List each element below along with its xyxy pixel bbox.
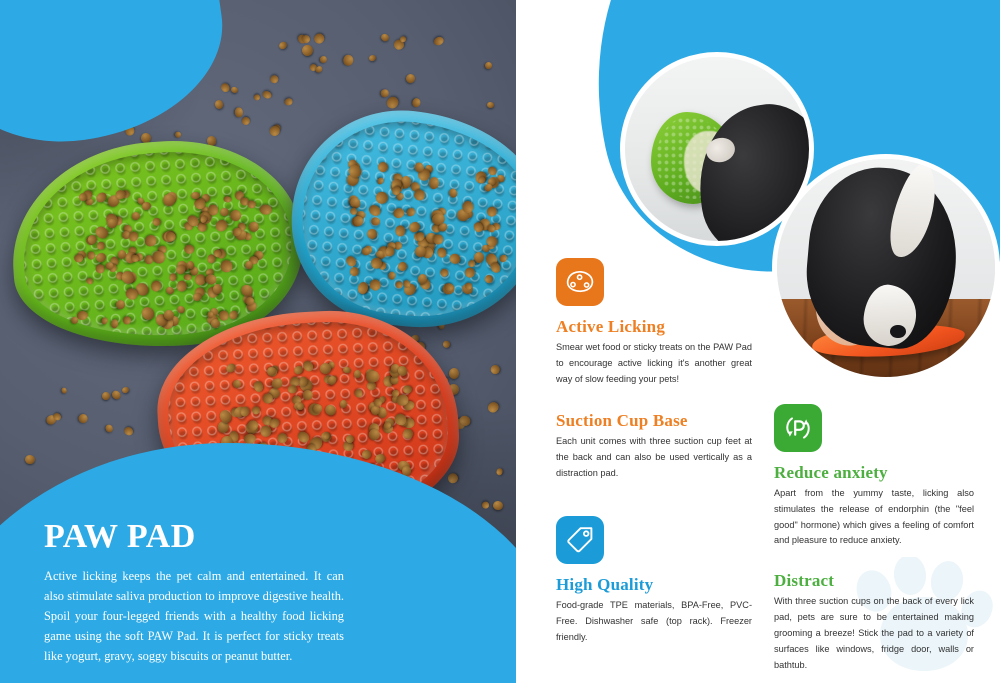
feature-body: Each unit comes with three suction cup f…	[556, 434, 752, 481]
kibble-piece	[259, 204, 271, 215]
kibble-piece	[210, 318, 220, 328]
kibble-piece	[428, 176, 439, 189]
feature-body: With three suction cups on the back of e…	[774, 594, 974, 673]
kibble-piece	[176, 279, 187, 291]
brochure-page: PAW PAD Active licking keeps the pet cal…	[0, 0, 1000, 683]
kibble-piece	[191, 191, 200, 199]
headline-block: PAW PAD Active licking keeps the pet cal…	[44, 518, 344, 666]
kibble-piece	[361, 247, 370, 255]
kibble-piece	[97, 242, 105, 250]
feature-body: Food-grade TPE materials, BPA-Free, PVC-…	[556, 598, 752, 645]
kibble-piece	[165, 231, 176, 242]
kibble-piece	[371, 217, 381, 226]
feature-column-left: Active Licking Smear wet food or sticky …	[556, 258, 752, 663]
price-tag-icon	[556, 516, 604, 564]
kibble-piece	[312, 403, 322, 413]
kibble-piece	[366, 370, 380, 383]
kibble-piece	[221, 259, 233, 271]
kibble-piece	[343, 366, 351, 373]
feature-distract: Distract With three suction cups on the …	[774, 571, 974, 673]
photo-dog-licking-floor-mat	[772, 154, 1000, 382]
kibble-piece	[267, 367, 276, 376]
kibble-piece	[449, 367, 460, 378]
kibble-piece	[234, 107, 243, 117]
kibble-piece	[253, 93, 260, 100]
feature-title: Reduce anxiety	[774, 463, 974, 483]
panel-divider	[516, 0, 522, 683]
kibble-piece	[486, 236, 498, 247]
kibble-piece	[495, 468, 502, 476]
kibble-piece	[353, 370, 361, 378]
page-title: PAW PAD	[44, 518, 344, 556]
feature-high-quality: High Quality Food-grade TPE materials, B…	[556, 516, 752, 645]
kibble-piece	[175, 131, 181, 137]
page-intro-paragraph: Active licking keeps the pet calm and en…	[44, 566, 344, 666]
feature-body: Apart from the yummy taste, licking also…	[774, 486, 974, 549]
lick-pad-icon	[556, 258, 604, 306]
feature-active-licking: Active Licking Smear wet food or sticky …	[556, 258, 752, 387]
refresh-p-icon	[774, 404, 822, 452]
kibble-piece	[24, 454, 35, 464]
feature-title: Distract	[774, 571, 974, 591]
feature-column-right: Reduce anxiety Apart from the yummy tast…	[774, 404, 974, 683]
feature-suction-cup-base: Suction Cup Base Each unit comes with th…	[556, 411, 752, 481]
kibble-piece	[168, 273, 176, 282]
feature-title: High Quality	[556, 575, 752, 595]
kibble-piece	[320, 362, 332, 373]
left-product-panel: PAW PAD Active licking keeps the pet cal…	[0, 0, 516, 683]
feature-body: Smear wet food or sticky treats on the P…	[556, 340, 752, 387]
kibble-piece	[402, 428, 413, 439]
kibble-piece	[342, 54, 353, 65]
kibble-piece	[464, 283, 472, 290]
collie-nose	[890, 325, 905, 338]
feature-title: Suction Cup Base	[556, 411, 752, 431]
photo-scene-floor	[777, 159, 995, 377]
kibble-piece	[288, 384, 297, 393]
feature-title: Active Licking	[556, 317, 752, 337]
feature-reduce-anxiety: Reduce anxiety Apart from the yummy tast…	[774, 404, 974, 549]
kibble-piece	[380, 88, 389, 97]
right-content-panel: Active Licking Smear wet food or sticky …	[522, 0, 1000, 683]
